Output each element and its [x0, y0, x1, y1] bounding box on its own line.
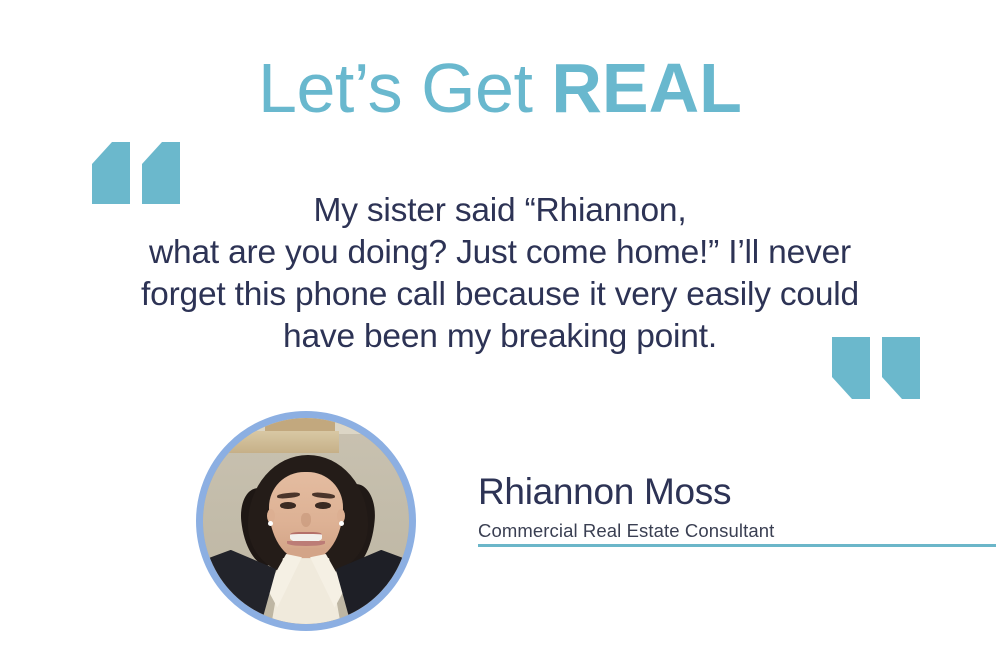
- person-name: Rhiannon Moss: [478, 470, 998, 514]
- page-title: Let’s Get REAL: [0, 52, 1000, 126]
- portrait-photo: [203, 418, 409, 624]
- close-quote-icon: [832, 337, 920, 399]
- quote-text: My sister said “Rhiannon, what are you d…: [95, 190, 905, 358]
- person-role: Commercial Real Estate Consultant: [478, 518, 998, 544]
- avatar: [196, 411, 416, 631]
- quote-line: have been my breaking point.: [95, 316, 905, 358]
- testimonial-card: Let’s Get REAL My sister said “Rhiannon,…: [0, 0, 1000, 672]
- quote-line: what are you doing? Just come home!” I’l…: [95, 232, 905, 274]
- attribution-divider: [478, 544, 996, 547]
- headline-light-text: Let’s Get: [258, 49, 551, 127]
- quote-line: forget this phone call because it very e…: [95, 274, 905, 316]
- headline-bold-text: REAL: [551, 49, 742, 127]
- quote-line: My sister said “Rhiannon,: [95, 190, 905, 232]
- attribution-block: Rhiannon Moss Commercial Real Estate Con…: [478, 470, 998, 544]
